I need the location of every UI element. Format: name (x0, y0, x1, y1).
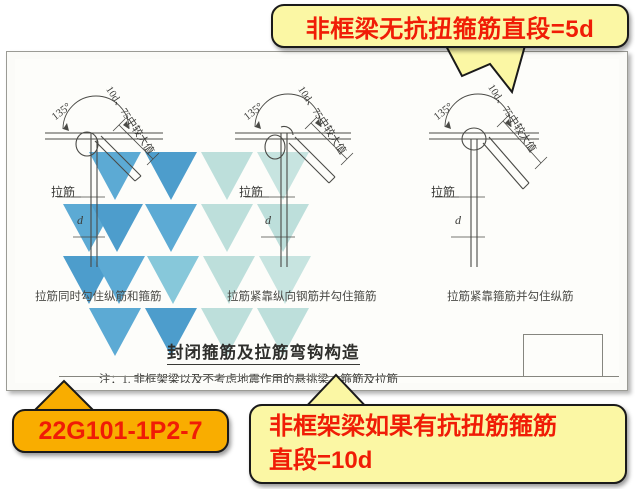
callout-tail-top (440, 42, 530, 94)
drawing-title-block (523, 334, 603, 377)
hook-detail-1: 135° 10d、75中较大值 拉筋 d (43, 77, 248, 272)
hook-detail-2-drawing (233, 77, 438, 272)
hook-detail-3-drawing (427, 77, 619, 272)
scanned-document-page: 135° 10d、75中较大值 拉筋 d (6, 51, 628, 391)
diameter-label-3: d (455, 213, 461, 228)
callout-bottom-right-line-2: 直段=10d (269, 444, 372, 478)
bar-label-2: 拉筋 (239, 183, 263, 200)
detail-caption-3: 拉筋紧靠箍筋并勾住纵筋 (447, 288, 574, 304)
bar-label-1: 拉筋 (51, 183, 75, 200)
callout-bottom-right: 非框架梁如果有抗扭筋箍筋 直段=10d (249, 404, 627, 484)
bar-label-3: 拉筋 (431, 183, 455, 200)
callout-top: 非框梁无抗扭箍筋直段=5d (271, 4, 629, 48)
callout-bottom-right-line-1: 非框架梁如果有抗扭筋箍筋 (269, 410, 557, 444)
diameter-label-2: d (265, 213, 271, 228)
hook-detail-2: 135° 10d、75中较大值 拉筋 d (233, 77, 438, 272)
document-content-area: 135° 10d、75中较大值 拉筋 d (15, 59, 619, 383)
hook-detail-1-drawing (43, 77, 248, 272)
diameter-label-1: d (77, 213, 83, 228)
detail-caption-1: 拉筋同时勾住纵筋和箍筋 (35, 288, 162, 304)
callout-bottom-left-reference: 22G101-1P2-7 (12, 409, 229, 453)
hook-detail-3: 135° 10d、75中较大值 拉筋 d (427, 77, 619, 272)
detail-caption-2: 拉筋紧靠纵向钢筋并勾住箍筋 (227, 288, 377, 304)
figure-title: 封闭箍筋及拉筋弯钩构造 (167, 339, 360, 365)
